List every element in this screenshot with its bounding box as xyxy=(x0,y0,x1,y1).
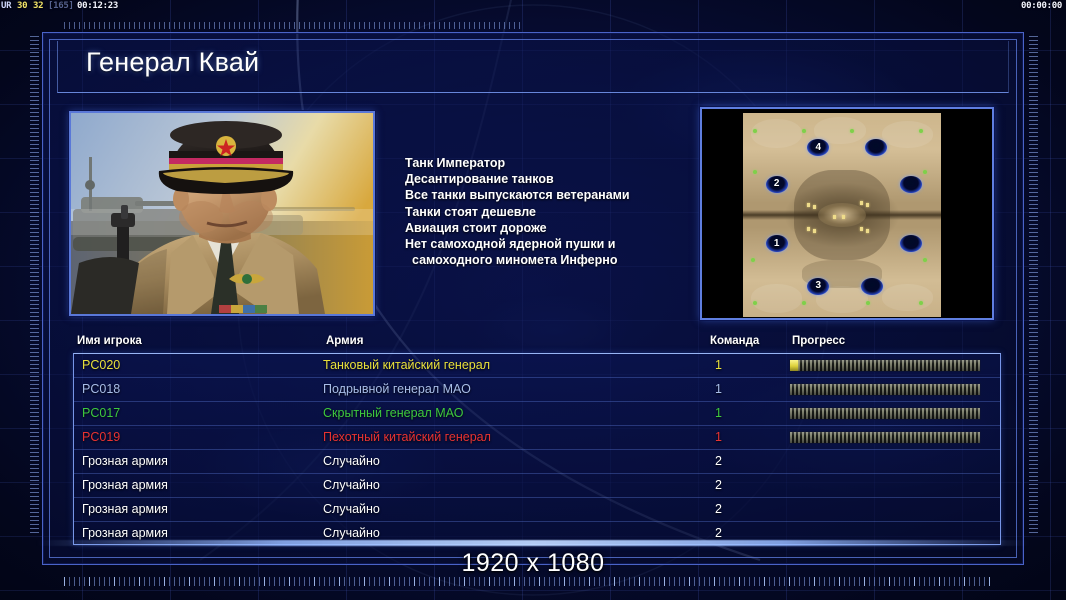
oil-derrick-icon xyxy=(866,203,869,207)
oil-derrick-icon xyxy=(807,203,810,207)
oil-derrick-icon xyxy=(866,229,869,233)
column-header-team: Команда xyxy=(710,335,759,347)
elapsed-timer: 00:12:23 xyxy=(77,0,118,13)
page-title: Генерал Квай xyxy=(86,47,259,78)
description-line: Десантирование танков xyxy=(405,171,705,187)
progress-track xyxy=(790,408,980,419)
supply-dock-icon xyxy=(751,258,755,262)
minimap-start-position[interactable]: 4 xyxy=(807,139,829,156)
supply-dock-icon xyxy=(923,258,927,262)
description-line: Танки стоят дешевле xyxy=(405,204,705,220)
table-row[interactable]: PC019Пехотный китайский генерал1 xyxy=(74,426,1000,450)
supply-dock-icon xyxy=(919,301,923,305)
title-bar: Генерал Квай xyxy=(57,41,1009,93)
description-line: Танк Император xyxy=(405,155,705,171)
content-row: Танк Император Десантирование танков Все… xyxy=(69,107,999,323)
army-cell: Танковый китайский генерал xyxy=(323,358,490,372)
description-line: Все танки выпускаются ветеранами xyxy=(405,187,705,203)
table-row[interactable]: PC020Танковый китайский генерал1 xyxy=(74,354,1000,378)
player-name-cell: PC017 xyxy=(82,406,120,420)
table-row[interactable]: PC017Скрытный генерал МАО1 xyxy=(74,402,1000,426)
army-cell: Случайно xyxy=(323,478,380,492)
supply-dock-icon xyxy=(802,129,806,133)
player-name-cell: PC018 xyxy=(82,382,120,396)
team-cell: 2 xyxy=(715,526,722,540)
resolution-label: 1920 x 1080 xyxy=(0,549,1066,578)
general-description: Танк Император Десантирование танков Все… xyxy=(405,111,705,316)
team-cell: 1 xyxy=(715,358,722,372)
minimap-start-position[interactable]: 3 xyxy=(807,278,829,295)
table-row[interactable]: Грозная армияСлучайно2 xyxy=(74,450,1000,474)
supply-dock-icon xyxy=(866,301,870,305)
player-name-cell: Грозная армия xyxy=(82,502,168,516)
fps-label: UR xyxy=(1,0,11,13)
oil-derrick-icon xyxy=(860,227,863,231)
loading-screen: UR 30 32 [165] 00:12:23 00:00:00 Генерал… xyxy=(0,0,1066,600)
start-position-label: 3 xyxy=(815,281,821,291)
army-cell: Скрытный генерал МАО xyxy=(323,406,463,420)
team-cell: 2 xyxy=(715,454,722,468)
supply-dock-icon xyxy=(850,129,854,133)
ruler-bottom-decoration xyxy=(64,577,994,586)
supply-dock-icon xyxy=(753,170,757,174)
progress-bar xyxy=(789,383,981,396)
oil-derrick-icon xyxy=(813,205,816,209)
player-name-cell: Грозная армия xyxy=(82,478,168,492)
progress-bar xyxy=(789,431,981,444)
progress-bar xyxy=(789,359,981,372)
supply-dock-icon xyxy=(753,301,757,305)
team-cell: 1 xyxy=(715,382,722,396)
team-cell: 1 xyxy=(715,430,722,444)
fps-bracket: [165] xyxy=(48,0,74,13)
player-name-cell: Грозная армия xyxy=(82,526,168,540)
description-line: Авиация стоит дороже xyxy=(405,220,705,236)
supply-dock-icon xyxy=(919,129,923,133)
supply-dock-icon xyxy=(802,301,806,305)
fps-value-b: 32 xyxy=(33,0,43,13)
progress-track xyxy=(790,384,980,395)
oil-derrick-icon xyxy=(807,227,810,231)
progress-track xyxy=(790,432,980,443)
general-portrait xyxy=(69,111,375,316)
start-position-label: 4 xyxy=(815,143,821,153)
army-cell: Пехотный китайский генерал xyxy=(323,430,491,444)
top-status-bar: UR 30 32 [165] 00:12:23 00:00:00 xyxy=(0,0,1066,13)
supply-dock-icon xyxy=(753,129,757,133)
army-cell: Случайно xyxy=(323,526,380,540)
description-line: самоходного миномета Инферно xyxy=(405,252,705,268)
minimap-start-position[interactable] xyxy=(900,176,922,193)
table-row[interactable]: PC018Подрывной генерал МАО1 xyxy=(74,378,1000,402)
team-cell: 1 xyxy=(715,406,722,420)
progress-track xyxy=(790,360,980,371)
ruler-top-decoration xyxy=(64,22,524,29)
player-table-header: Имя игрока Армия Команда Прогресс xyxy=(77,335,997,353)
player-name-cell: PC019 xyxy=(82,430,120,444)
team-cell: 2 xyxy=(715,478,722,492)
table-row[interactable]: Грозная армияСлучайно2 xyxy=(74,474,1000,498)
army-cell: Случайно xyxy=(323,454,380,468)
start-position-label: 1 xyxy=(774,239,780,249)
column-header-player-name: Имя игрока xyxy=(77,335,142,347)
oil-derrick-icon xyxy=(842,215,845,219)
ruler-left-decoration xyxy=(30,36,39,536)
loading-panel: Генерал Квай xyxy=(42,32,1024,565)
fps-value-a: 30 xyxy=(17,0,27,13)
army-cell: Подрывной генерал МАО xyxy=(323,382,471,396)
oil-derrick-icon xyxy=(833,215,836,219)
player-table-body: PC020Танковый китайский генерал1PC018Под… xyxy=(73,353,1001,545)
progress-fill xyxy=(790,360,798,371)
description-line: Нет самоходной ядерной пушки и xyxy=(405,236,705,252)
minimap-start-position[interactable] xyxy=(900,235,922,252)
minimap-start-position[interactable]: 1 xyxy=(766,235,788,252)
minimap-preview: 4213 xyxy=(700,107,994,320)
table-row[interactable]: Грозная армияСлучайно2 xyxy=(74,498,1000,522)
team-cell: 2 xyxy=(715,502,722,516)
start-position-label: 2 xyxy=(774,179,780,189)
minimap-terrain: 4213 xyxy=(743,113,941,317)
minimap-start-position[interactable] xyxy=(865,139,887,156)
oil-derrick-icon xyxy=(860,201,863,205)
ruler-right-decoration xyxy=(1029,36,1038,536)
column-header-progress: Прогресс xyxy=(792,335,845,347)
progress-bar xyxy=(789,407,981,420)
bottom-glow-divider xyxy=(36,540,1030,546)
player-name-cell: Грозная армия xyxy=(82,454,168,468)
column-header-army: Армия xyxy=(326,335,363,347)
minimap-start-position[interactable] xyxy=(861,278,883,295)
general-kwai-portrait-image xyxy=(71,113,373,314)
mission-clock: 00:00:00 xyxy=(1021,0,1062,13)
oil-derrick-icon xyxy=(813,229,816,233)
minimap-start-position[interactable]: 2 xyxy=(766,176,788,193)
army-cell: Случайно xyxy=(323,502,380,516)
player-name-cell: PC020 xyxy=(82,358,120,372)
supply-dock-icon xyxy=(923,170,927,174)
